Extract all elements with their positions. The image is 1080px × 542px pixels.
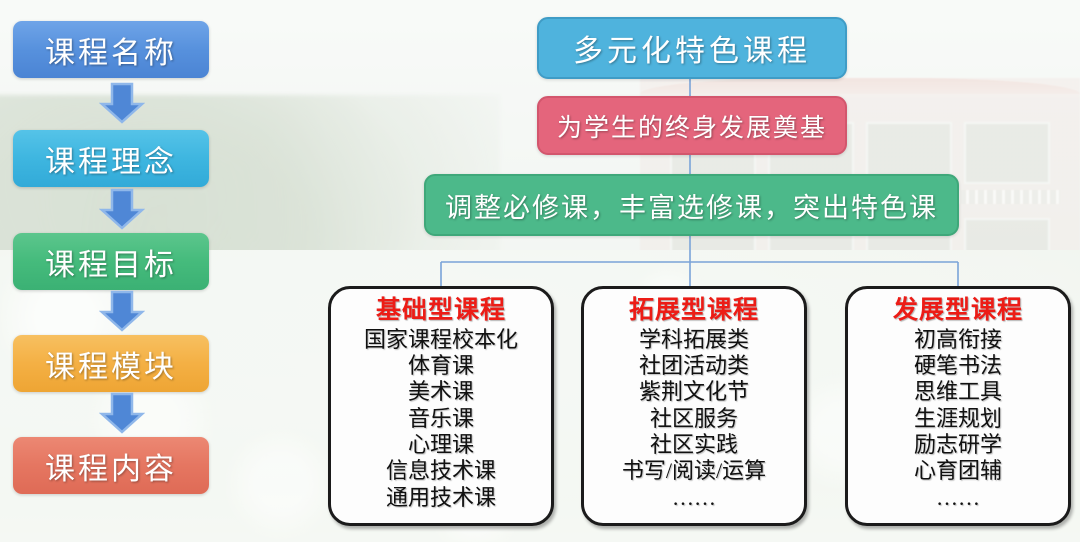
strategy-label: 调整必修课，丰富选修课，突出特色课 (445, 186, 938, 225)
list-item: 心育团辅 (914, 458, 1002, 484)
card-item-list: 国家课程校本化 体育课 美术课 音乐课 心理课 信息技术课 通用技术课 (364, 327, 518, 512)
list-item: …… (914, 485, 1002, 511)
flow-step-label: 课程目标 (45, 240, 177, 284)
flow-step-label: 课程模块 (45, 342, 177, 386)
main-title-label: 多元化特色课程 (573, 26, 811, 70)
flow-step-label: 课程内容 (45, 444, 177, 488)
list-item: 美术课 (364, 379, 518, 405)
list-item: 信息技术课 (364, 458, 518, 484)
card-item-list: 初高衔接 硬笔书法 思维工具 生涯规划 励志研学 心育团辅 …… (914, 327, 1002, 512)
arrow-down-icon (99, 186, 145, 232)
flow-step-course-goal[interactable]: 课程目标 (13, 233, 209, 290)
flow-step-course-name[interactable]: 课程名称 (13, 21, 209, 78)
list-item: 心理课 (364, 432, 518, 458)
list-item: 思维工具 (914, 379, 1002, 405)
flow-step-label: 课程名称 (45, 28, 177, 72)
list-item: 国家课程校本化 (364, 327, 518, 353)
course-card-basic[interactable]: 基础型课程 国家课程校本化 体育课 美术课 音乐课 心理课 信息技术课 通用技术… (328, 286, 554, 526)
arrow-down-icon (99, 390, 145, 436)
list-item: 紫荆文化节 (622, 379, 766, 405)
course-card-extension[interactable]: 拓展型课程 学科拓展类 社团活动类 紫荆文化节 社区服务 社区实践 书写/阅读/… (581, 286, 807, 526)
subtitle-label: 为学生的终身发展奠基 (557, 108, 827, 144)
list-item: 生涯规划 (914, 406, 1002, 432)
list-item: …… (622, 485, 766, 511)
list-item: 书写/阅读/运算 (622, 458, 766, 484)
list-item: 学科拓展类 (622, 327, 766, 353)
arrow-down-icon (99, 288, 145, 334)
card-title: 基础型课程 (376, 296, 506, 326)
list-item: 社团活动类 (622, 353, 766, 379)
flow-step-course-content[interactable]: 课程内容 (13, 437, 209, 494)
flow-step-course-module[interactable]: 课程模块 (13, 335, 209, 392)
arrow-down-icon (99, 80, 145, 126)
strategy-box[interactable]: 调整必修课，丰富选修课，突出特色课 (424, 174, 959, 236)
course-card-development[interactable]: 发展型课程 初高衔接 硬笔书法 思维工具 生涯规划 励志研学 心育团辅 …… (845, 286, 1071, 526)
list-item: 初高衔接 (914, 327, 1002, 353)
list-item: 体育课 (364, 353, 518, 379)
list-item: 硬笔书法 (914, 353, 1002, 379)
slide-canvas: 课程名称 课程理念 课程目标 课程模块 (0, 0, 1080, 542)
list-item: 励志研学 (914, 432, 1002, 458)
card-item-list: 学科拓展类 社团活动类 紫荆文化节 社区服务 社区实践 书写/阅读/运算 …… (622, 327, 766, 512)
flow-step-label: 课程理念 (45, 137, 177, 181)
list-item: 社区服务 (622, 406, 766, 432)
subtitle-box[interactable]: 为学生的终身发展奠基 (537, 96, 847, 155)
list-item: 社区实践 (622, 432, 766, 458)
card-title: 拓展型课程 (629, 296, 759, 326)
main-title-box[interactable]: 多元化特色课程 (537, 17, 847, 79)
card-title: 发展型课程 (893, 296, 1023, 326)
flow-step-course-concept[interactable]: 课程理念 (13, 130, 209, 187)
list-item: 通用技术课 (364, 485, 518, 511)
list-item: 音乐课 (364, 406, 518, 432)
